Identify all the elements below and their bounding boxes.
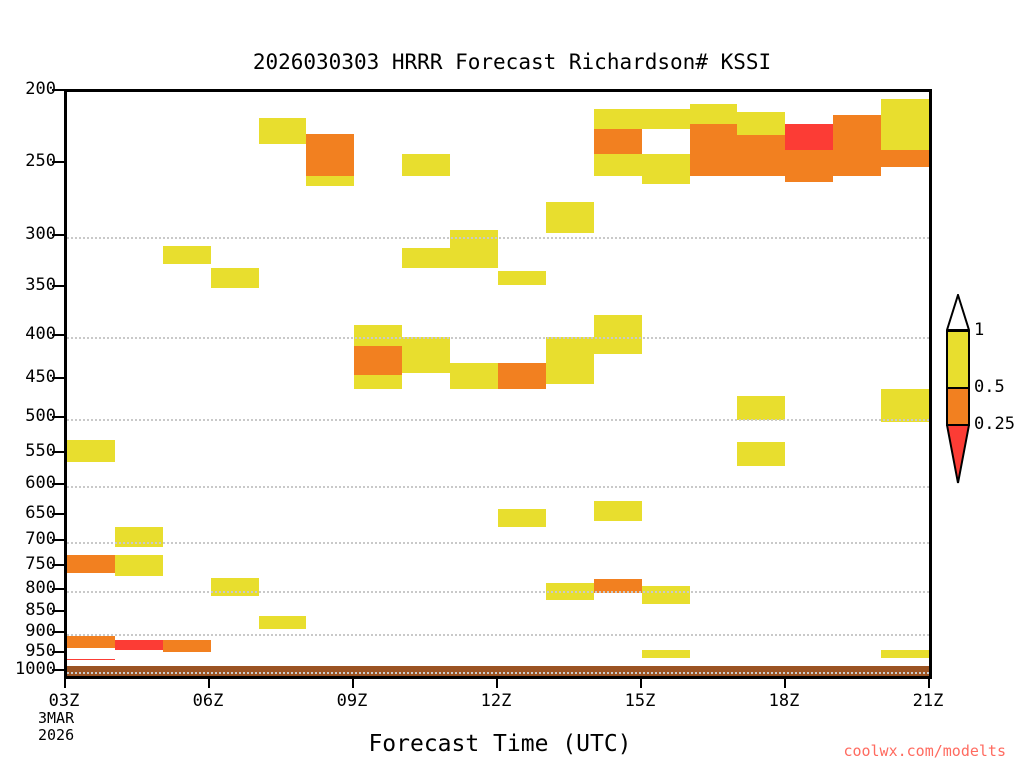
gridline [67, 634, 929, 636]
gridline [67, 337, 929, 339]
y-tick-mark [52, 89, 64, 91]
colorbar-top-triangle-outline [946, 294, 970, 330]
x-tick-label: 06Z [178, 691, 238, 711]
x-tick-mark [208, 679, 210, 688]
x-tick-label: 21Z [898, 691, 958, 711]
plot-area [64, 89, 932, 679]
x-tick-mark [64, 679, 66, 688]
gridline [67, 486, 929, 488]
colorbar-bottom-triangle [946, 424, 970, 484]
x-tick-mark [928, 679, 930, 688]
colorbar-tick-label: 0.5 [974, 379, 1005, 396]
y-tick-mark [52, 451, 64, 453]
colorbar-band-edge [946, 330, 970, 332]
x-tick-label: 15Z [610, 691, 670, 711]
colorbar-tick-label: 1 [974, 322, 984, 339]
watermark: coolwx.com/modelts [843, 742, 1006, 760]
y-tick-mark [52, 234, 64, 236]
y-tick-mark [52, 377, 64, 379]
colorbar-tick-label: 0.25 [974, 416, 1015, 433]
x-tick-label: 03Z [34, 691, 94, 711]
page-title: 2026030303 HRRR Forecast Richardson# KSS… [0, 50, 1024, 74]
y-tick-mark [52, 610, 64, 612]
y-tick-label: 1000 [15, 661, 56, 678]
chart-root: 2026030303 HRRR Forecast Richardson# KSS… [0, 0, 1024, 768]
richardson-number-colorbar: 10.50.25 [946, 294, 970, 484]
y-tick-mark [52, 651, 64, 653]
colorbar-band [946, 387, 970, 424]
colorbar-band [946, 330, 970, 387]
y-tick-mark [52, 513, 64, 515]
y-tick-mark [52, 669, 64, 671]
y-tick-mark [52, 285, 64, 287]
x-tick-mark [352, 679, 354, 688]
gridlines-layer [67, 92, 929, 676]
gridline [67, 672, 929, 674]
y-tick-mark [52, 631, 64, 633]
x-tick-label: 09Z [322, 691, 382, 711]
y-tick-mark [52, 334, 64, 336]
x-tick-mark [784, 679, 786, 688]
x-tick-mark [496, 679, 498, 688]
x-tick-label: 12Z [466, 691, 526, 711]
y-tick-mark [52, 539, 64, 541]
y-tick-mark [52, 416, 64, 418]
x-tick-label: 18Z [754, 691, 814, 711]
y-tick-mark [52, 588, 64, 590]
y-tick-mark [52, 564, 64, 566]
y-tick-mark [52, 483, 64, 485]
colorbar-band-edge [946, 387, 970, 389]
gridline [67, 419, 929, 421]
y-tick-mark [52, 161, 64, 163]
gridline [67, 542, 929, 544]
gridline [67, 237, 929, 239]
x-tick-mark [640, 679, 642, 688]
gridline [67, 591, 929, 593]
